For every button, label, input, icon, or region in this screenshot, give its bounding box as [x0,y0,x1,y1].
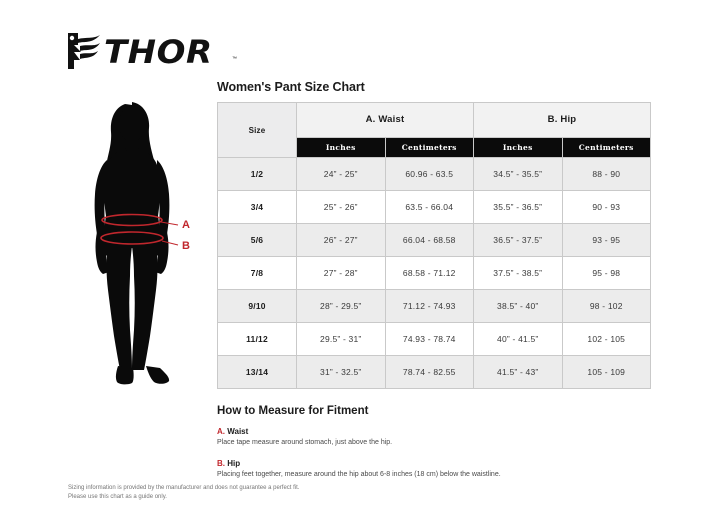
measure-item-waist: A. Waist Place tape measure around stoma… [217,427,655,447]
cell-waist-inches: 24” - 25” [297,158,386,191]
table-row: 11/12 29.5” - 31” 74.93 - 78.74 40” - 41… [218,323,651,356]
cell-waist-inches: 26” - 27” [297,224,386,257]
cell-waist-centimeters: 60.96 - 63.5 [385,158,474,191]
how-to-measure-section: How to Measure for Fitment A. Waist Plac… [217,405,655,479]
table-header-row-groups: Size A. Waist B. Hip [218,103,651,138]
column-header-waist-inches: Inches [297,137,386,157]
cell-size: 9/10 [218,290,297,323]
table-row: 9/10 28” - 29.5” 71.12 - 74.93 38.5” - 4… [218,290,651,323]
content-column: Women's Pant Size Chart Size A. Waist B.… [217,80,655,491]
cell-hip-centimeters: 88 - 90 [562,158,651,191]
cell-waist-centimeters: 68.58 - 71.12 [385,257,474,290]
column-group-hip: B. Hip [474,103,651,138]
callout-label-a: A [182,219,190,231]
cell-hip-centimeters: 102 - 105 [562,323,651,356]
column-header-waist-centimeters: Centimeters [385,137,474,157]
measure-label-waist: A. Waist [217,427,655,436]
cell-hip-inches: 36.5” - 37.5” [474,224,563,257]
cell-hip-centimeters: 90 - 93 [562,191,651,224]
cell-size: 3/4 [218,191,297,224]
callout-label-b: B [182,240,190,252]
cell-waist-centimeters: 74.93 - 78.74 [385,323,474,356]
column-group-waist: A. Waist [297,103,474,138]
size-chart-table: Size A. Waist B. Hip Inches Centimeters … [217,102,651,389]
cell-hip-centimeters: 105 - 109 [562,356,651,389]
cell-waist-inches: 25” - 26” [297,191,386,224]
cell-waist-inches: 28” - 29.5” [297,290,386,323]
cell-hip-centimeters: 98 - 102 [562,290,651,323]
disclaimer-line-1: Sizing information is provided by the ma… [68,484,299,493]
column-header-hip-inches: Inches [474,137,563,157]
cell-waist-inches: 29.5” - 31” [297,323,386,356]
cell-hip-inches: 37.5” - 38.5” [474,257,563,290]
cell-hip-inches: 34.5” - 35.5” [474,158,563,191]
measure-marker-a: A. [217,427,225,436]
table-row: 5/6 26” - 27” 66.04 - 68.58 36.5” - 37.5… [218,224,651,257]
measure-label-hip: B. Hip [217,459,655,468]
female-body-silhouette: A B [62,98,222,390]
measure-name-hip: Hip [227,459,240,468]
measure-name-waist: Waist [227,427,248,436]
cell-size: 1/2 [218,158,297,191]
table-row: 7/8 27” - 28” 68.58 - 71.12 37.5” - 38.5… [218,257,651,290]
table-row: 3/4 25” - 26” 63.5 - 66.04 35.5” - 36.5”… [218,191,651,224]
brand-logo: THOR ™ [64,28,244,74]
measure-item-hip: B. Hip Placing feet together, measure ar… [217,459,655,479]
cell-waist-centimeters: 66.04 - 68.58 [385,224,474,257]
column-header-size: Size [218,103,297,158]
cell-hip-inches: 35.5” - 36.5” [474,191,563,224]
cell-hip-inches: 41.5” - 43” [474,356,563,389]
cell-waist-inches: 31” - 32.5” [297,356,386,389]
cell-size: 11/12 [218,323,297,356]
page-title: Women's Pant Size Chart [217,80,655,94]
disclaimer: Sizing information is provided by the ma… [68,484,299,503]
cell-size: 7/8 [218,257,297,290]
cell-hip-centimeters: 95 - 98 [562,257,651,290]
cell-waist-centimeters: 78.74 - 82.55 [385,356,474,389]
thor-helmet-icon [64,30,104,72]
measure-text-waist: Place tape measure around stomach, just … [217,438,655,447]
cell-size: 5/6 [218,224,297,257]
cell-waist-inches: 27” - 28” [297,257,386,290]
disclaimer-line-2: Please use this chart as a guide only. [68,493,299,502]
cell-hip-centimeters: 93 - 95 [562,224,651,257]
cell-waist-centimeters: 71.12 - 74.93 [385,290,474,323]
cell-size: 13/14 [218,356,297,389]
cell-waist-centimeters: 63.5 - 66.04 [385,191,474,224]
measure-text-hip: Placing feet together, measure around th… [217,470,655,479]
measure-marker-b: B. [217,459,225,468]
cell-hip-inches: 38.5” - 40” [474,290,563,323]
table-row: 13/14 31” - 32.5” 78.74 - 82.55 41.5” - … [218,356,651,389]
table-row: 1/2 24” - 25” 60.96 - 63.5 34.5” - 35.5”… [218,158,651,191]
column-header-hip-centimeters: Centimeters [562,137,651,157]
trademark-symbol: ™ [232,56,237,62]
how-to-measure-title: How to Measure for Fitment [217,405,655,417]
brand-wordmark: THOR [104,33,213,71]
cell-hip-inches: 40” - 41.5” [474,323,563,356]
